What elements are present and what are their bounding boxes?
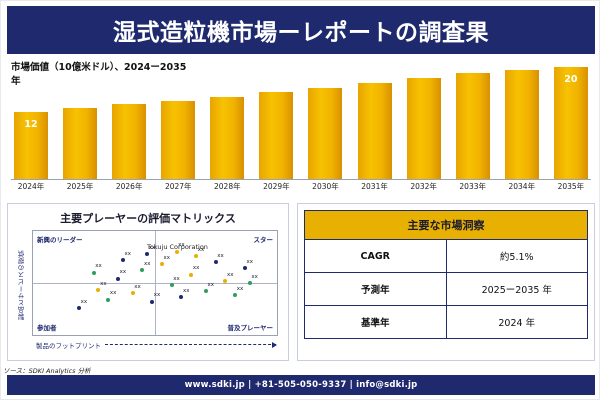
matrix-data-point [121,258,125,262]
matrix-data-point [175,250,179,254]
matrix-data-point [248,281,252,285]
matrix-data-point [150,300,154,304]
bar [407,78,441,179]
x-axis-tick-labels: 2024年2025年2026年2027年2028年2029年2030年2031年… [11,181,591,192]
player-matrix-panel: 主要プレーヤーの評価マトリックス 製品とサービスの提供 新興のリーダー スター … [7,203,289,361]
bar-item [109,57,149,179]
matrix-point-label: xx [251,274,258,280]
bar [210,97,244,179]
matrix-point-label: xx [217,253,224,259]
matrix-y-axis: 製品とサービスの提供 [16,232,28,338]
x-tick-label: 2031年 [355,181,395,192]
x-tick-label: 2033年 [453,181,493,192]
insight-label: 基準年 [305,306,447,339]
bar-item [60,57,100,179]
x-tick-label: 2027年 [158,181,198,192]
x-tick-label: 2028年 [207,181,247,192]
report-page: 湿式造粒機市場ーレポートの調査果 市場価値（10億米ドル）、2024ー2035 … [0,0,600,400]
matrix-data-point [189,273,193,277]
header-banner: 湿式造粒機市場ーレポートの調査果 [7,6,595,54]
bar [63,108,97,179]
matrix-quadrant-top-right: スター [254,234,274,244]
key-insights-title: 主要な市場洞察 [304,210,588,240]
matrix-point-label: xx [178,242,185,248]
table-row: 基準年2024 年 [305,306,588,339]
bar-series: 1220 [11,57,591,179]
matrix-point-label: xx [95,263,102,269]
x-tick-label: 2030年 [305,181,345,192]
footer-banner: www.sdki.jp | +81-505-050-9337 | info@sd… [7,375,595,395]
source-note: ソース：SDKI Analytics 分析 [3,365,91,375]
matrix-point-label: xx [154,292,161,298]
x-tick-label: 2035年 [551,181,591,192]
matrix-point-label: xx [149,245,156,251]
matrix-data-point [194,254,198,258]
matrix-point-label: xx [81,299,88,305]
bar-item: 12 [11,57,51,179]
matrix-quadrant-top-left: 新興のリーダー [37,234,83,244]
matrix-point-label: xx [247,259,254,265]
x-tick-label: 2024年 [11,181,51,192]
x-tick-label: 2026年 [109,181,149,192]
bar-item [207,57,247,179]
x-tick-label: 2032年 [404,181,444,192]
matrix-data-point [92,271,96,275]
insight-value: 2025ー2035 年 [446,273,588,306]
insight-label: CAGR [305,240,447,273]
bar [259,92,293,179]
matrix-data-point [170,283,174,287]
bar [505,70,539,179]
matrix-horizontal-divider [33,283,277,284]
key-insights-table: CAGR約5.1%予測年2025ー2035 年基準年2024 年 [304,240,588,339]
matrix-data-point [179,295,183,299]
bar [308,88,342,179]
matrix-data-point [77,306,81,310]
bar-item [355,57,395,179]
matrix-quadrant-bottom-right: 普及プレーヤー [228,322,274,332]
matrix-point-label: xx [125,251,132,257]
bar-item [256,57,296,179]
bar-value-label: 12 [24,119,37,130]
matrix-point-label: xx [144,261,151,267]
table-row: 予測年2025ー2035 年 [305,273,588,306]
bar-item: 20 [551,57,591,179]
matrix-plot: 新興のリーダー スター 参加者 普及プレーヤー Tokuju Corporati… [32,230,278,336]
matrix-data-point [214,260,218,264]
matrix-data-point [140,268,144,272]
matrix-point-label: xx [134,284,141,290]
matrix-point-label: xx [193,265,200,271]
matrix-data-point [160,262,164,266]
matrix-point-label: xx [120,269,127,275]
matrix-y-axis-label: 製品とサービスの提供 [17,250,27,320]
matrix-point-label: xx [164,255,171,261]
matrix-point-label: xx [198,247,205,253]
matrix-data-point [145,252,149,256]
matrix-point-label: xx [207,282,214,288]
bar [358,83,392,179]
matrix-data-point [116,277,120,281]
key-insights-panel: 主要な市場洞察 CAGR約5.1%予測年2025ー2035 年基準年2024 年 [297,203,595,361]
bar [161,101,195,179]
bar [112,104,146,179]
matrix-data-point [106,298,110,302]
bar-value-label: 20 [564,74,577,85]
bar-item [502,57,542,179]
footer-contact: www.sdki.jp | +81-505-050-9337 | info@sd… [185,380,418,390]
matrix-point-label: xx [100,281,107,287]
insight-value: 2024 年 [446,306,588,339]
x-axis-line [11,179,591,180]
matrix-x-axis-arrow-icon [105,344,276,346]
table-row: CAGR約5.1% [305,240,588,273]
matrix-data-point [243,266,247,270]
page-title: 湿式造粒機市場ーレポートの調査果 [113,13,489,47]
bar-item [158,57,198,179]
matrix-data-point [131,291,135,295]
matrix-data-point [204,289,208,293]
market-value-chart: 市場価値（10億米ドル）、2024ー2035 年 1220 2024年2025年… [7,57,595,195]
x-tick-label: 2034年 [502,181,542,192]
chart-plot-area: 1220 2024年2025年2026年2027年2028年2029年2030年… [11,57,591,179]
insight-label: 予測年 [305,273,447,306]
matrix-data-point [96,288,100,292]
matrix-x-axis-label: 製品のフットプリント [32,340,101,350]
matrix-point-label: xx [173,276,180,282]
x-tick-label: 2029年 [256,181,296,192]
matrix-point-label: xx [227,272,234,278]
matrix-data-point [233,293,237,297]
matrix-quadrant-bottom-left: 参加者 [37,322,57,332]
insight-value: 約5.1% [446,240,588,273]
bar-item [404,57,444,179]
bar-item [305,57,345,179]
matrix-point-label: xx [110,290,117,296]
bar-item [453,57,493,179]
matrix-title: 主要プレーヤーの評価マトリックス [8,210,288,226]
matrix-x-axis: 製品のフットプリント [32,338,278,352]
x-tick-label: 2025年 [60,181,100,192]
bar [456,73,490,179]
matrix-point-label: xx [183,288,190,294]
matrix-point-label: xx [237,286,244,292]
matrix-area: 製品とサービスの提供 新興のリーダー スター 参加者 普及プレーヤー Tokuj… [16,230,282,350]
